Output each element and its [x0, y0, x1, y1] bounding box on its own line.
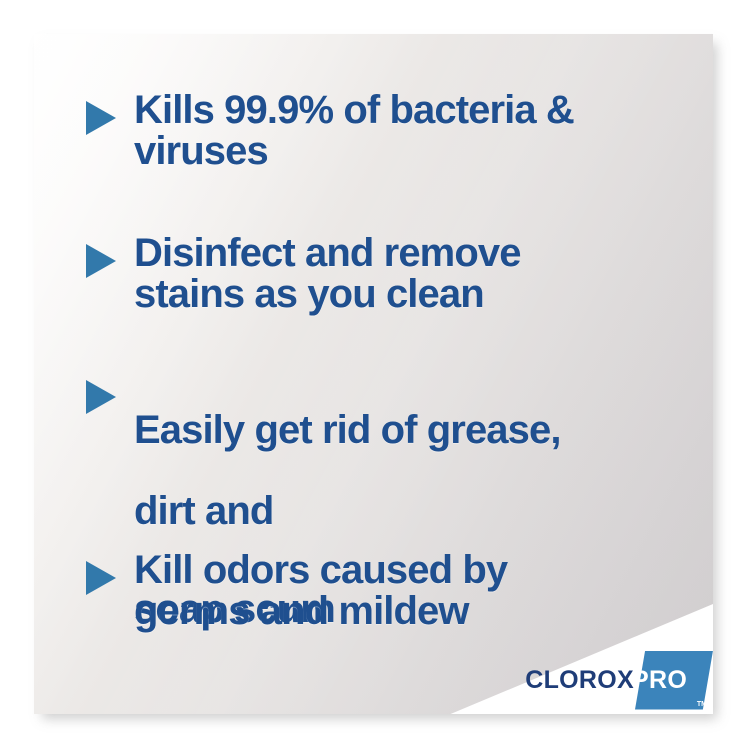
feature-bullet-text: Disinfect and remove stains as you clean	[134, 233, 521, 315]
triangle-right-icon	[86, 561, 116, 595]
feature-callout-image: Kills 99.9% of bacteria & viruses Disinf…	[0, 0, 750, 750]
feature-bullet-disinfect-remove-stains: Disinfect and remove stains as you clean	[86, 233, 521, 315]
brand-name-pro: PRO	[632, 668, 687, 693]
feature-bullet-line-1: Easily get rid of grease,	[134, 410, 561, 451]
feature-bullet-kill-odors: Kill odors caused by germs and mildew	[86, 550, 507, 632]
trademark-symbol: TM	[697, 701, 707, 708]
triangle-right-icon	[86, 101, 116, 135]
feature-bullet-text: Kills 99.9% of bacteria & viruses	[134, 90, 574, 172]
feature-bullet-kills-bacteria-viruses: Kills 99.9% of bacteria & viruses	[86, 90, 574, 172]
feature-bullet-text: Kill odors caused by germs and mildew	[134, 550, 507, 632]
feature-bullet-line-2: dirt and	[134, 491, 561, 532]
triangle-right-icon	[86, 244, 116, 278]
feature-bullet-list: Kills 99.9% of bacteria & viruses Disinf…	[34, 34, 713, 714]
brand-name-clorox: CLOROX	[525, 668, 635, 693]
cloroxpro-logo: CLOROX PRO TM	[525, 662, 713, 698]
brand-pro-badge: PRO TM	[635, 651, 713, 710]
triangle-right-icon	[86, 380, 116, 414]
feature-panel: Kills 99.9% of bacteria & viruses Disinf…	[34, 34, 713, 714]
